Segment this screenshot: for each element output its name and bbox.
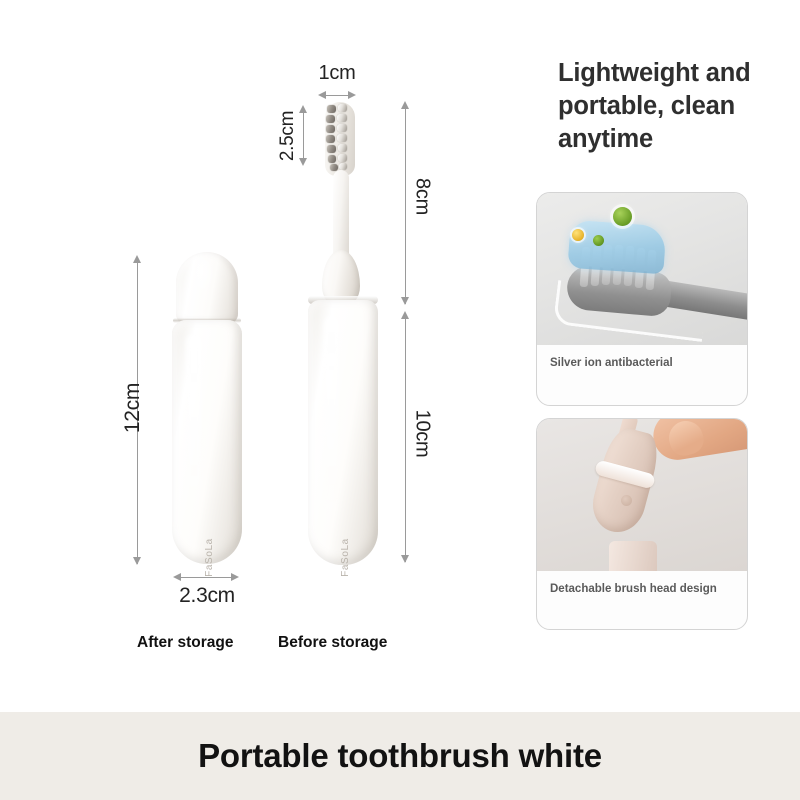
germ-icon — [613, 207, 632, 226]
dimension-label-case-height: 12cm — [121, 373, 145, 443]
dimension-arrow-left — [173, 573, 181, 581]
dimension-arrow-down — [133, 557, 141, 565]
handle-tube-illustration — [609, 541, 657, 571]
feature-caption-silver-ion: Silver ion antibacterial — [537, 345, 747, 372]
bristle-tuft — [339, 163, 347, 170]
bristle-tuft — [338, 144, 347, 152]
dimension-arrow-down — [299, 158, 307, 166]
feature-image-detachable-head — [537, 419, 747, 571]
dimension-arrow-down — [401, 297, 409, 305]
case-body-highlight — [186, 334, 202, 524]
dimension-arrow-down — [401, 555, 409, 563]
bristle-tuft — [337, 134, 347, 142]
headline-text: Lightweight and portable, clean anytime — [558, 57, 798, 156]
bristle-tuft — [326, 135, 335, 143]
bristle-tuft — [327, 145, 336, 153]
bottom-title-banner: Portable toothbrush white — [0, 712, 800, 800]
dimension-label-upper-length: 8cm — [411, 167, 434, 227]
storage-case-closed: FaSoLa — [168, 252, 246, 564]
brush-head — [316, 100, 366, 178]
case-body: FaSoLa — [172, 320, 242, 564]
feature-card-silver-ion[interactable]: Silver ion antibacterial — [536, 192, 748, 406]
dimension-label-head-height: 2.5cm — [277, 96, 299, 176]
bristle-tuft — [326, 125, 335, 133]
product-title: Portable toothbrush white — [198, 737, 602, 775]
pollen-icon — [572, 229, 584, 241]
dimension-arrow-up — [401, 101, 409, 109]
bristle-tuft — [337, 114, 347, 122]
brush-handle-body: FaSoLa — [308, 300, 378, 565]
dimension-arrow-up — [133, 255, 141, 263]
dimension-line-head-width — [325, 95, 349, 96]
bristle-tuft — [328, 155, 336, 163]
dimension-arrow-left — [318, 91, 326, 99]
feature-image-silver-ion — [537, 193, 747, 345]
dimension-line-lower-length — [405, 318, 406, 562]
dimension-line-head-height — [303, 112, 304, 164]
dimension-line-upper-length — [405, 108, 406, 304]
toothbrush-assembled: FaSoLa — [300, 100, 392, 565]
bristle-tuft — [338, 154, 347, 162]
dimension-label-head-width: 1cm — [305, 62, 369, 85]
dimension-arrow-up — [401, 311, 409, 319]
product-dimension-diagram: FaSoLa — [0, 0, 520, 712]
bristle-tuft — [338, 104, 347, 112]
case-cap — [176, 252, 238, 324]
case-cap-highlight — [194, 260, 214, 294]
dimension-arrow-right — [348, 91, 356, 99]
product-infographic: FaSoLa — [0, 0, 800, 800]
dimension-arrow-right — [231, 573, 239, 581]
caption-before-storage: Before storage — [278, 634, 387, 652]
brush-handle-highlight — [324, 316, 339, 516]
bristle-tuft — [337, 124, 347, 132]
bristle-tuft — [327, 105, 336, 113]
brand-logo-handle: FaSoLa — [340, 538, 351, 577]
bristle-tuft — [326, 115, 335, 123]
feature-column: Lightweight and portable, clean anytime … — [520, 0, 800, 712]
foam-illustration — [567, 220, 666, 275]
dimension-label-lower-length: 10cm — [411, 400, 434, 468]
caption-after-storage: After storage — [137, 634, 233, 652]
head-button-dot — [621, 495, 632, 506]
brand-logo-case: FaSoLa — [204, 538, 215, 577]
dimension-line-case-width — [180, 577, 232, 578]
feature-card-detachable-head[interactable]: Detachable brush head design — [536, 418, 748, 630]
dimension-label-case-width: 2.3cm — [166, 584, 248, 608]
feature-caption-detachable-head: Detachable brush head design — [537, 571, 747, 598]
dimension-arrow-up — [299, 105, 307, 113]
germ-icon — [593, 235, 604, 246]
